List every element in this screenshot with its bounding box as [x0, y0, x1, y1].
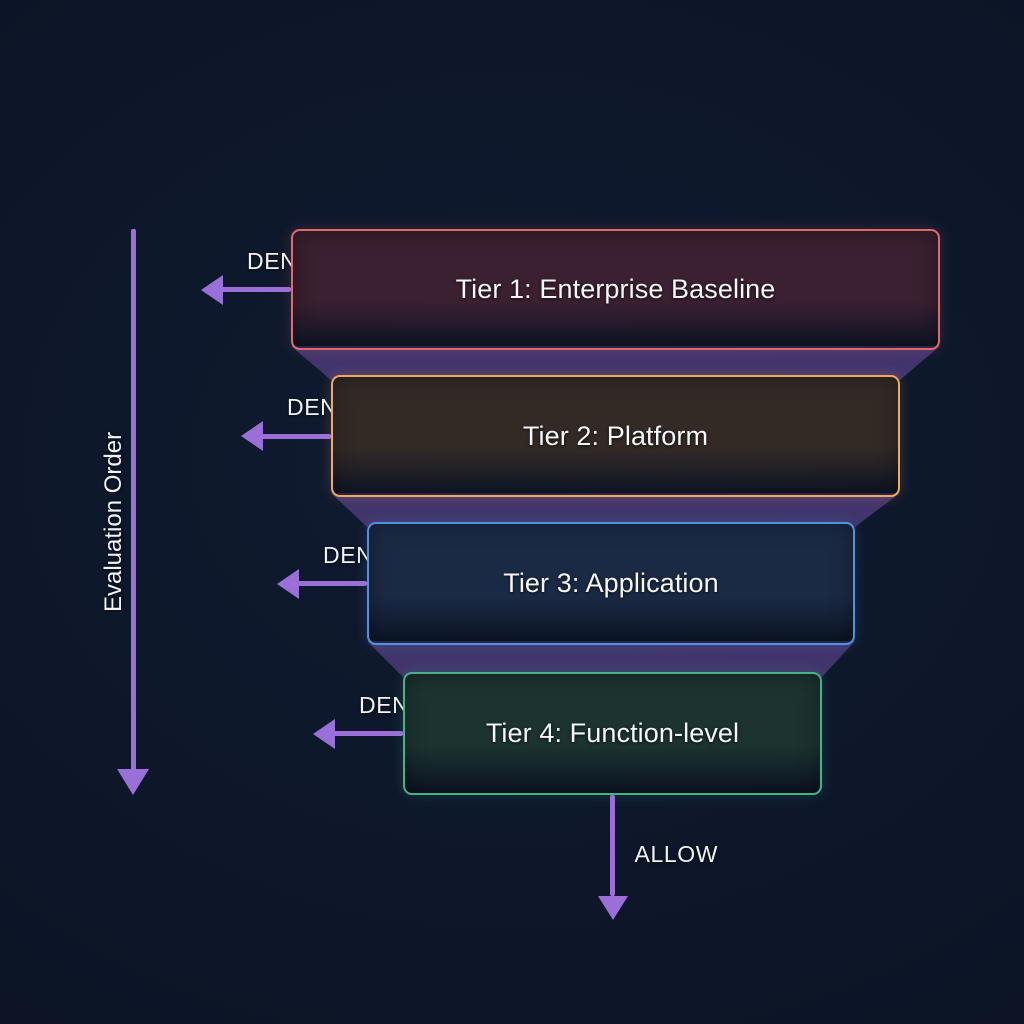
- tier-box-4[interactable]: Tier 4: Function-level: [403, 672, 822, 795]
- allow-arrowhead-icon: [598, 896, 628, 920]
- tier-label-1: Tier 1: Enterprise Baseline: [456, 274, 776, 305]
- deny-arrow-line-tier3: [295, 581, 367, 586]
- evaluation-order-axis-line: [131, 229, 136, 773]
- tier-box-2[interactable]: Tier 2: Platform: [331, 375, 900, 497]
- tier-label-2: Tier 2: Platform: [523, 421, 708, 452]
- evaluation-order-label: Evaluation Order: [100, 432, 128, 612]
- evaluation-order-arrowhead-icon: [117, 769, 149, 795]
- allow-label: ALLOW: [635, 841, 719, 868]
- tier-label-3: Tier 3: Application: [503, 568, 719, 599]
- tier-box-3[interactable]: Tier 3: Application: [367, 522, 855, 645]
- deny-arrow-line-tier1: [219, 287, 291, 292]
- tier-box-1[interactable]: Tier 1: Enterprise Baseline: [291, 229, 940, 350]
- tier-label-4: Tier 4: Function-level: [486, 718, 739, 749]
- deny-arrow-line-tier4: [331, 731, 403, 736]
- diagram-canvas: Evaluation Order Tier 1: Enterprise Base…: [0, 0, 1024, 1024]
- allow-arrow-line: [610, 795, 615, 896]
- deny-arrow-line-tier2: [259, 434, 331, 439]
